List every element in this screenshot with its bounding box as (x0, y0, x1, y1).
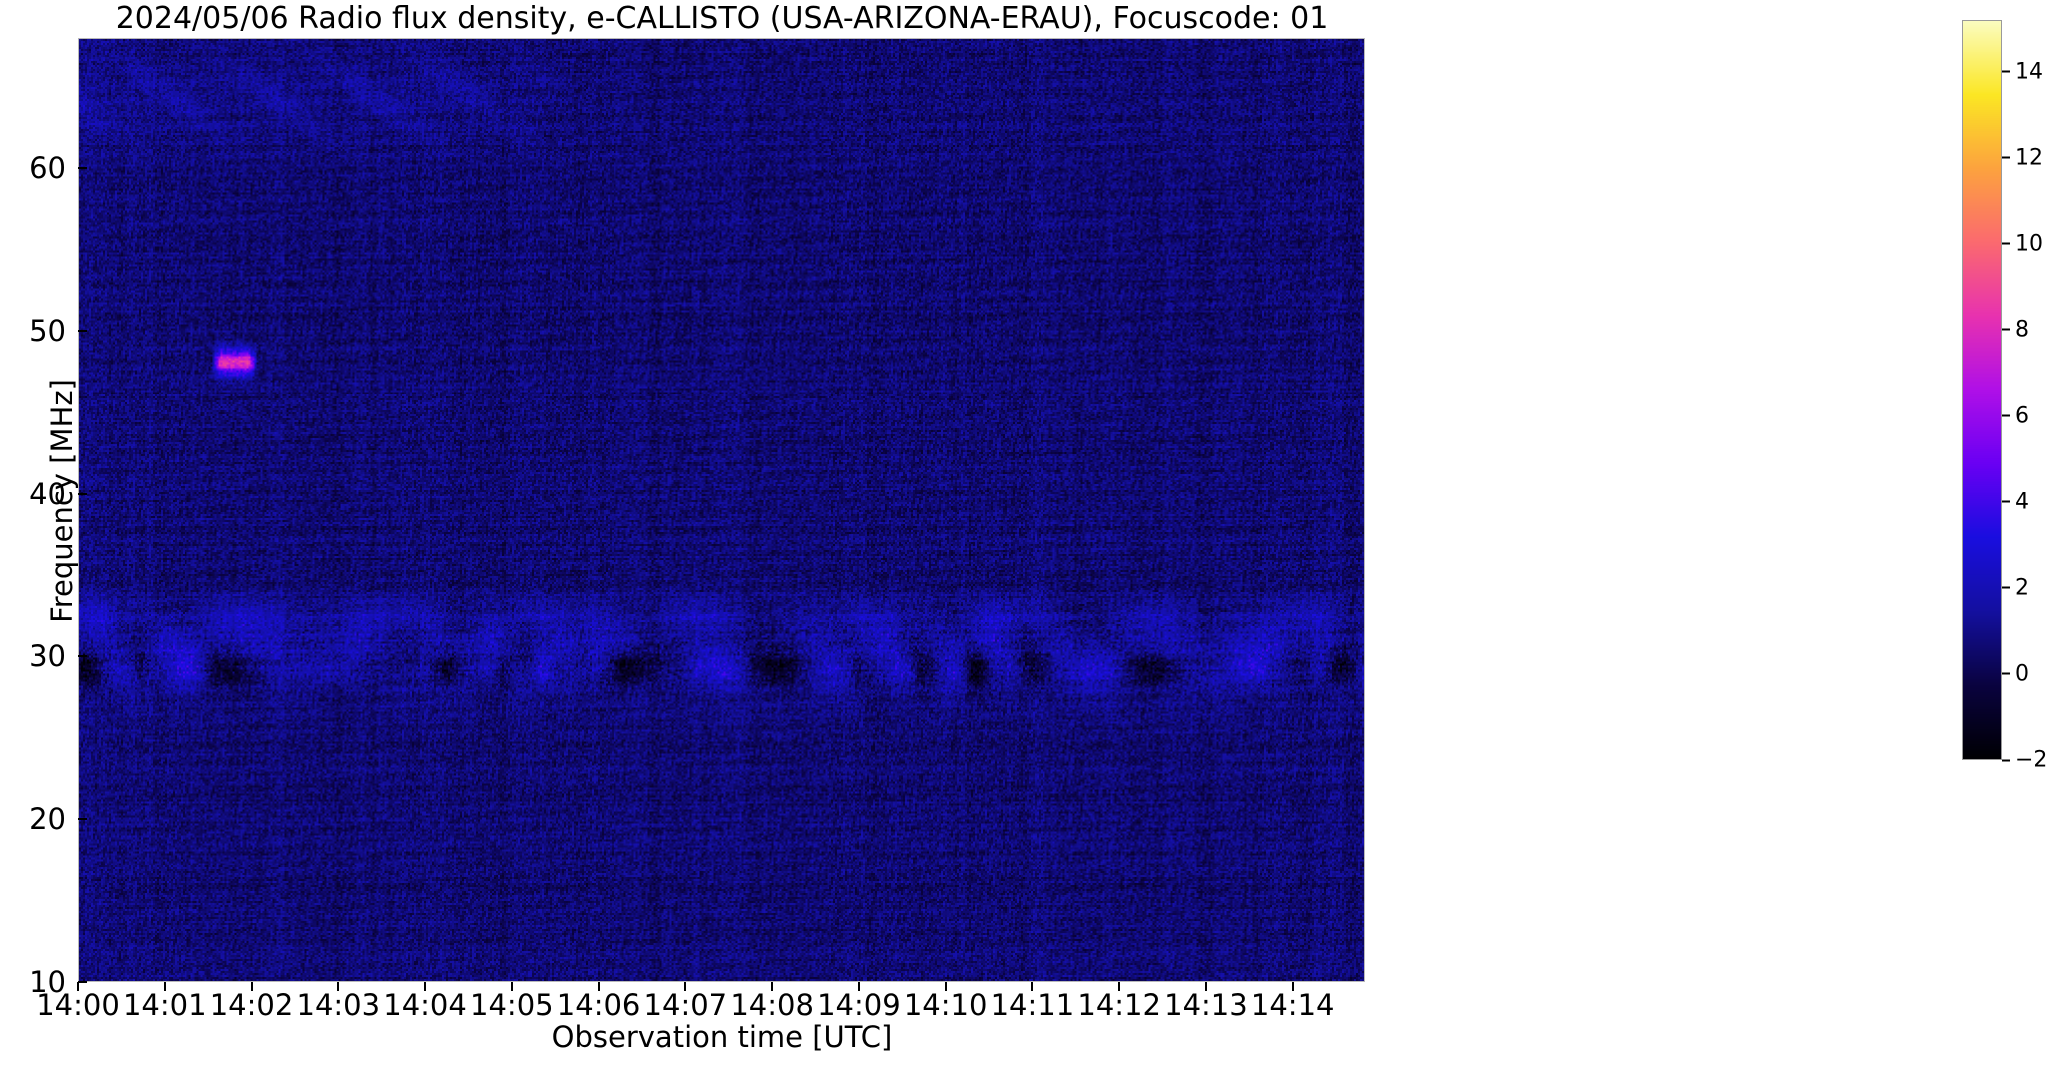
x-axis-tick-mark (684, 982, 686, 991)
y-axis-tick-mark (78, 330, 87, 332)
x-axis-tick-label: 14:01 (123, 988, 207, 1022)
x-axis-tick-mark (77, 982, 79, 991)
x-axis-tick-label: 14:03 (296, 988, 380, 1022)
y-axis-tick-mark (78, 167, 87, 169)
colorbar-tick-mark (2002, 157, 2010, 159)
colorbar-tick: 2 (2002, 575, 2029, 600)
x-axis-tick-label: 14:07 (644, 988, 728, 1022)
x-axis-tick-mark (424, 982, 426, 991)
colorbar[interactable] (1962, 20, 2002, 760)
y-axis-tick-mark (78, 493, 87, 495)
colorbar-tick: 14 (2002, 59, 2043, 84)
y-axis-tick-mark (78, 655, 87, 657)
colorbar-tick-mark (2002, 587, 2010, 589)
x-axis-tick-mark (1292, 982, 1294, 991)
x-axis-tick-mark (1031, 982, 1033, 991)
colorbar-tick: −2 (2002, 748, 2047, 773)
colorbar-tick-mark (2002, 329, 2010, 331)
y-axis-label: Frequency [MHz] (45, 151, 79, 851)
colorbar-tick: 12 (2002, 145, 2043, 170)
colorbar-tick-mark (2002, 673, 2010, 675)
colorbar-tick: 10 (2002, 231, 2043, 256)
x-axis-tick-label: 14:14 (1251, 988, 1335, 1022)
x-axis-tick-label: 14:10 (904, 988, 988, 1022)
x-axis-tick-label: 14:06 (557, 988, 641, 1022)
x-axis-tick-mark (1205, 982, 1207, 991)
colorbar-tick-mark (2002, 415, 2010, 417)
x-axis-tick-mark (1118, 982, 1120, 991)
x-axis-tick-label: 14:00 (36, 988, 120, 1022)
x-axis-tick-mark (164, 982, 166, 991)
colorbar-tick: 6 (2002, 403, 2029, 428)
colorbar-tick: 0 (2002, 661, 2029, 686)
x-axis-tick-mark (251, 982, 253, 991)
spectrogram-image (79, 39, 1364, 981)
colorbar-tick-mark (2002, 501, 2010, 503)
spectrogram-figure: 2024/05/06 Radio flux density, e-CALLIST… (0, 0, 2047, 1067)
x-axis-tick-label: 14:04 (383, 988, 467, 1022)
x-axis-tick-mark (598, 982, 600, 991)
plot-area[interactable] (78, 38, 1365, 982)
colorbar-tick: 8 (2002, 317, 2029, 342)
colorbar-canvas (1963, 21, 2001, 759)
colorbar-tick-mark (2002, 71, 2010, 73)
x-axis-tick-mark (945, 982, 947, 991)
page-title: 2024/05/06 Radio flux density, e-CALLIST… (78, 2, 1366, 36)
colorbar-gradient (1962, 20, 2002, 760)
colorbar-tick: 4 (2002, 489, 2029, 514)
x-axis-tick-mark (337, 982, 339, 991)
y-axis-tick-mark (78, 818, 87, 820)
x-axis-tick-label: 14:08 (730, 988, 814, 1022)
x-axis-tick-mark (771, 982, 773, 991)
x-axis-tick-label: 14:12 (1077, 988, 1161, 1022)
x-axis-tick-label: 14:13 (1164, 988, 1248, 1022)
x-axis-tick-mark (511, 982, 513, 991)
x-axis-tick-mark (858, 982, 860, 991)
spectrogram-canvas (79, 39, 1364, 981)
x-axis-tick-label: 14:02 (210, 988, 294, 1022)
y-axis-tick-mark (78, 981, 87, 983)
colorbar-tick-mark (2002, 759, 2010, 761)
x-axis-label: Observation time [UTC] (78, 1020, 1366, 1054)
x-axis-tick-label: 14:09 (817, 988, 901, 1022)
colorbar-tick-mark (2002, 243, 2010, 245)
x-axis-tick-label: 14:11 (991, 988, 1075, 1022)
x-axis-tick-label: 14:05 (470, 988, 554, 1022)
